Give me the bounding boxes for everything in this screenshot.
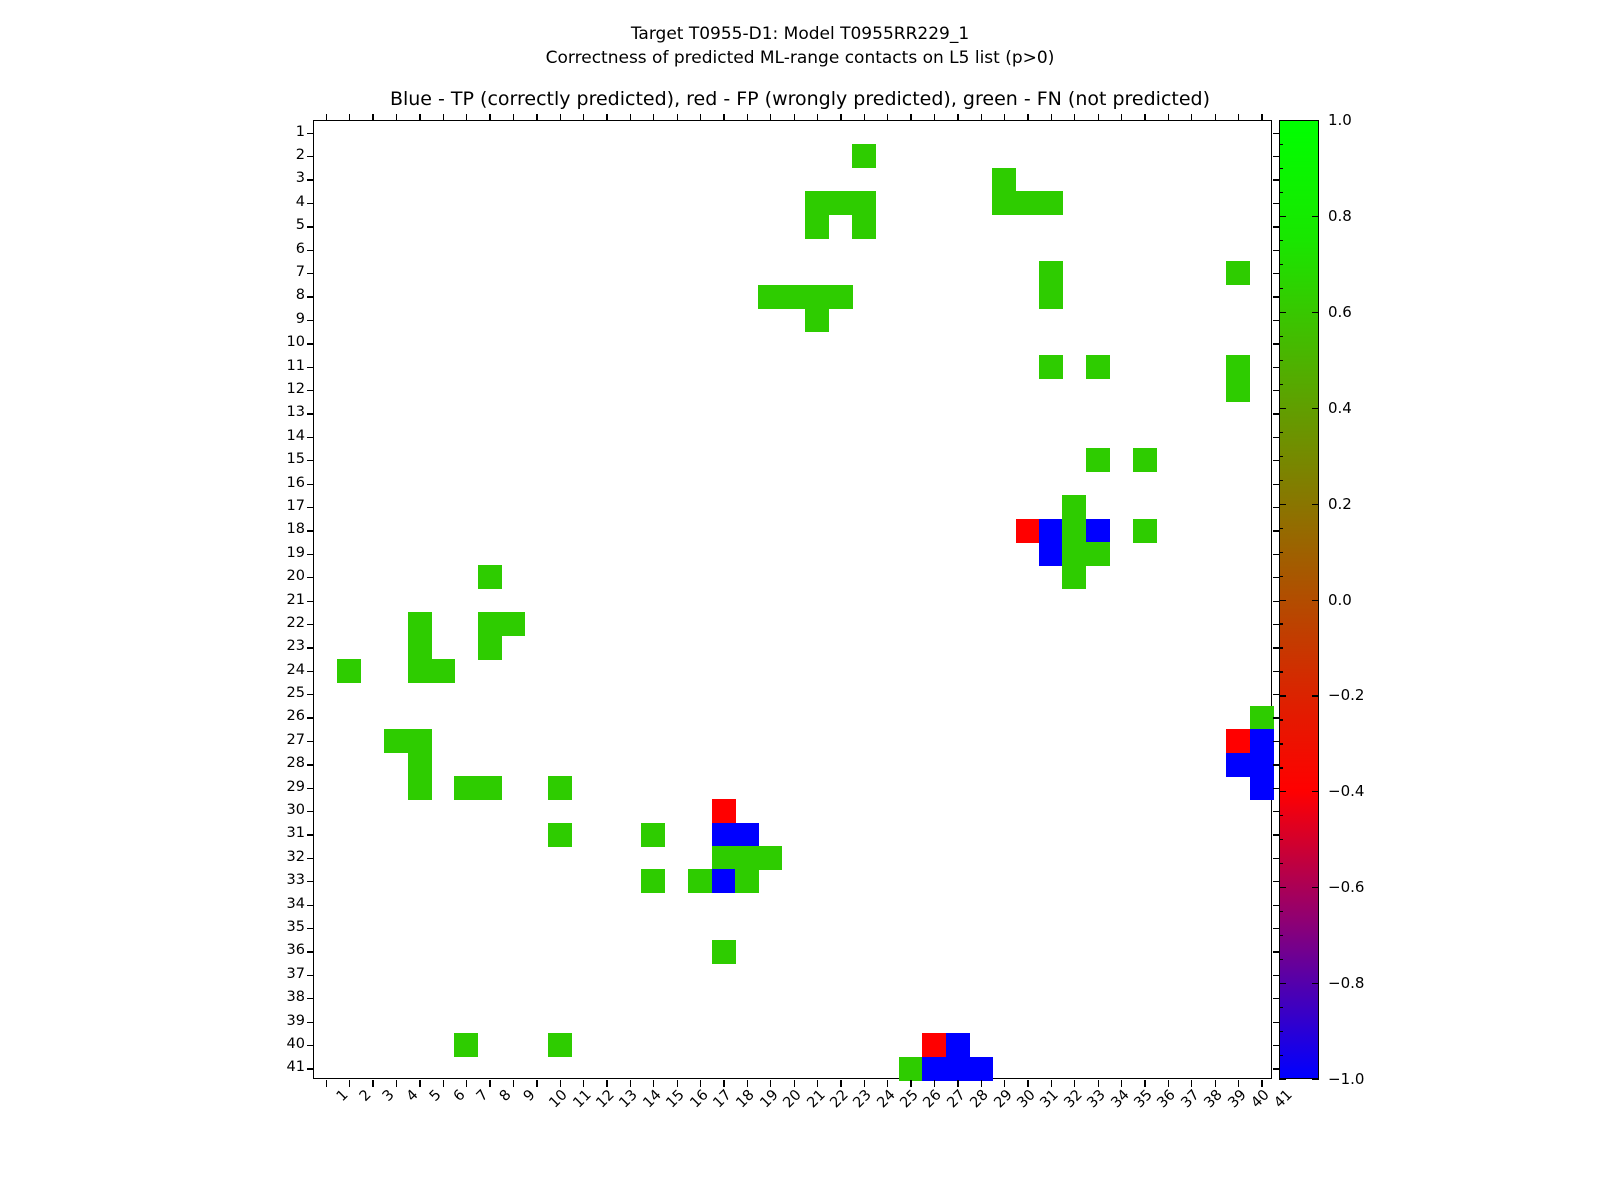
x-axis-tick-top [606, 114, 607, 121]
y-axis-tick-label: 14 [287, 428, 305, 444]
heatmap-cell [1250, 706, 1274, 730]
x-axis-tick-top [560, 114, 561, 121]
y-axis-tick-label: 20 [287, 568, 305, 584]
heatmap-cell [478, 612, 502, 636]
y-axis-tick-label: 12 [287, 381, 305, 397]
heatmap-cell [735, 823, 759, 847]
x-axis-tick-label: 24 [874, 1087, 898, 1111]
colorbar-minor-tick [1279, 815, 1283, 816]
x-axis-tick-label: 35 [1131, 1087, 1155, 1111]
x-axis-tick-label: 18 [734, 1087, 758, 1111]
colorbar-minor-tick [1279, 671, 1283, 672]
colorbar-minor-tick [1279, 791, 1283, 792]
colorbar-tick-label: −0.6 [1328, 878, 1364, 896]
x-axis-tick-label: 34 [1108, 1087, 1132, 1111]
color-legend-text: Blue - TP (correctly predicted), red - F… [0, 88, 1600, 110]
heatmap-cell [782, 285, 806, 309]
x-axis-tick-top [372, 114, 373, 121]
x-axis-tick-top [887, 114, 888, 121]
y-axis-tick-label: 1 [296, 124, 305, 140]
heatmap-cell [1250, 776, 1274, 800]
x-axis-tick-label: 4 [404, 1087, 422, 1105]
y-axis-tick [307, 343, 314, 344]
heatmap-cell [641, 869, 665, 893]
y-axis-tick-label: 22 [287, 615, 305, 631]
y-axis-tick-label: 40 [287, 1036, 305, 1052]
x-axis-tick-top [513, 114, 514, 121]
y-axis-tick [307, 507, 314, 508]
heatmap-cell [992, 191, 1016, 215]
heatmap-cell [478, 776, 502, 800]
colorbar-minor-tick [1279, 576, 1283, 577]
y-axis-tick [307, 1068, 314, 1069]
y-axis-tick-label: 21 [287, 592, 305, 608]
y-axis-tick [307, 133, 314, 134]
y-axis-tick-label: 39 [287, 1013, 305, 1029]
y-axis-tick [307, 905, 314, 906]
heatmap-cell [735, 846, 759, 870]
y-axis-tick-label: 32 [287, 849, 305, 865]
colorbar-minor-tick [1279, 288, 1283, 289]
heatmap-cell [852, 191, 876, 215]
y-axis-tick [307, 624, 314, 625]
colorbar-minor-tick [1279, 456, 1283, 457]
x-axis-tick-top [1004, 114, 1005, 121]
heatmap-cell [384, 729, 408, 753]
colorbar-tick-label: 0.2 [1328, 495, 1352, 513]
x-axis-tick-top [864, 114, 865, 121]
x-axis-tick-label: 11 [570, 1087, 594, 1111]
x-axis-tick-label: 19 [757, 1087, 781, 1111]
colorbar-minor-tick [1279, 384, 1283, 385]
x-axis-tick-label: 13 [617, 1087, 641, 1111]
colorbar-minor-tick [1279, 1079, 1283, 1080]
x-axis-tick-top [326, 114, 327, 121]
colorbar-tick-right [1312, 504, 1319, 505]
heatmap-cell [946, 1033, 970, 1057]
y-axis-tick-label: 24 [287, 662, 305, 678]
y-axis-tick-labels: 1234567891011121314151617181920212223242… [253, 120, 305, 1079]
x-axis-tick-top [981, 114, 982, 121]
heatmap-cell [922, 1057, 946, 1081]
y-axis-tick [307, 881, 314, 882]
x-axis-tick-top [466, 114, 467, 121]
heatmap-cell [1062, 565, 1086, 589]
x-axis-tick-top [1098, 114, 1099, 121]
y-axis-tick [307, 717, 314, 718]
x-axis-tick-label: 36 [1155, 1087, 1179, 1111]
x-axis-tick-label: 21 [804, 1087, 828, 1111]
heatmap-cell [992, 168, 1016, 192]
y-axis-tick [307, 998, 314, 999]
heatmap-cell [337, 659, 361, 683]
y-axis-tick-label: 36 [287, 942, 305, 958]
y-axis-tick [307, 367, 314, 368]
heatmap-cell [1133, 519, 1157, 543]
x-axis-tick-label: 27 [944, 1087, 968, 1111]
heatmap-cell [1062, 519, 1086, 543]
y-axis-tick [307, 320, 314, 321]
heatmap-cell [1226, 729, 1250, 753]
y-axis-tick-label: 33 [287, 872, 305, 888]
colorbar-minor-tick [1279, 480, 1283, 481]
y-axis-tick [307, 975, 314, 976]
colorbar-tick-right [1312, 312, 1319, 313]
y-axis-tick-label: 2 [296, 147, 305, 163]
heatmap-cell [548, 823, 572, 847]
x-axis-tick-label: 9 [521, 1087, 539, 1105]
y-axis-tick [307, 273, 314, 274]
x-axis-tick-top [1215, 114, 1216, 121]
colorbar-minor-tick [1279, 647, 1283, 648]
x-axis-tick-top [1051, 114, 1052, 121]
colorbar-tick-right [1312, 695, 1319, 696]
colorbar-tick-right [1312, 983, 1319, 984]
colorbar-ticks [1279, 120, 1319, 1079]
x-axis-tick-label: 29 [991, 1087, 1015, 1111]
colorbar-minor-tick [1279, 528, 1283, 529]
y-axis-tick-label: 11 [287, 358, 305, 374]
y-axis-tick-label: 18 [287, 521, 305, 537]
colorbar-tick-label: −0.2 [1328, 686, 1364, 704]
heatmap-cell [1250, 753, 1274, 777]
colorbar-tick-right [1312, 216, 1319, 217]
x-axis-tick-label: 39 [1225, 1087, 1249, 1111]
x-axis-tick-label: 41 [1272, 1087, 1296, 1111]
y-axis-tick [307, 203, 314, 204]
colorbar-minor-tick [1279, 144, 1283, 145]
x-axis-tick-top [677, 114, 678, 121]
x-axis-tick-top [1074, 114, 1075, 121]
x-axis-tick-top [934, 114, 935, 121]
title-line-1: Target T0955-D1: Model T0955RR229_1 [631, 24, 969, 44]
heatmap-cell [408, 729, 432, 753]
colorbar-minor-tick [1279, 408, 1283, 409]
x-axis-tick-top [419, 114, 420, 121]
heatmap-cell [805, 191, 829, 215]
colorbar-minor-tick [1279, 623, 1283, 624]
colorbar-minor-tick [1279, 360, 1283, 361]
x-axis-tick-top [349, 114, 350, 121]
y-axis-tick [307, 741, 314, 742]
x-axis-tick-labels: 1234567891011121314151617181920212223242… [313, 1079, 1272, 1169]
x-axis-tick-top [1261, 114, 1262, 121]
y-axis-tick-label: 5 [296, 217, 305, 233]
colorbar-minor-tick [1279, 1031, 1283, 1032]
colorbar-minor-tick [1279, 719, 1283, 720]
y-axis-tick-label: 23 [287, 638, 305, 654]
x-axis-tick-top [957, 114, 958, 121]
y-axis-tick [307, 179, 314, 180]
x-axis-tick-top [1191, 114, 1192, 121]
y-axis-tick-label: 7 [296, 264, 305, 280]
heatmap-cell [478, 565, 502, 589]
y-axis-tick [307, 250, 314, 251]
colorbar-tick-right [1312, 408, 1319, 409]
x-axis-tick-top [630, 114, 631, 121]
colorbar-tick-label: 0.8 [1328, 207, 1352, 225]
colorbar-tick-right [1312, 1079, 1319, 1080]
colorbar-tick-label: 0.0 [1328, 591, 1352, 609]
colorbar-minor-tick [1279, 168, 1283, 169]
x-axis-tick-top [396, 114, 397, 121]
x-axis-tick-top [1168, 114, 1169, 121]
colorbar-minor-tick [1279, 552, 1283, 553]
y-axis-tick-label: 31 [287, 825, 305, 841]
colorbar-tick-right [1312, 887, 1319, 888]
colorbar-minor-tick [1279, 695, 1283, 696]
x-axis-tick-label: 12 [593, 1087, 617, 1111]
x-axis-tick-label: 3 [380, 1087, 398, 1105]
heatmap-cell [758, 285, 782, 309]
x-axis-tick-label: 23 [851, 1087, 875, 1111]
heatmap-cell [1039, 261, 1063, 285]
heatmap-cell [758, 846, 782, 870]
heatmap-cell [501, 612, 525, 636]
x-axis-tick-label: 33 [1085, 1087, 1109, 1111]
y-axis-tick [307, 928, 314, 929]
heatmap-cell [548, 776, 572, 800]
x-axis-tick-top [1121, 114, 1122, 121]
colorbar-tick-right [1312, 600, 1319, 601]
y-axis-tick-label: 26 [287, 708, 305, 724]
heatmap-cell [829, 285, 853, 309]
colorbar-minor-tick [1279, 935, 1283, 936]
colorbar-minor-tick [1279, 336, 1283, 337]
colorbar-tick-right [1312, 791, 1319, 792]
heatmap-cell [1039, 191, 1063, 215]
x-axis-tick-label: 37 [1178, 1087, 1202, 1111]
colorbar-minor-tick [1279, 1055, 1283, 1056]
heatmap-cell [454, 1033, 478, 1057]
figure-title: Target T0955-D1: Model T0955RR229_1Corre… [0, 22, 1600, 70]
x-axis-tick-top [583, 114, 584, 121]
y-axis-tick [307, 694, 314, 695]
colorbar-minor-tick [1279, 600, 1283, 601]
heatmap-cell [431, 659, 455, 683]
heatmap-cell [478, 636, 502, 660]
y-axis-tick-label: 9 [296, 311, 305, 327]
colorbar-minor-tick [1279, 432, 1283, 433]
colorbar-minor-tick [1279, 839, 1283, 840]
x-axis-tick-top [700, 114, 701, 121]
y-axis-tick [307, 484, 314, 485]
contact-map-figure: Target T0955-D1: Model T0955RR229_1Corre… [0, 0, 1600, 1200]
heatmap-cell [408, 753, 432, 777]
x-axis-tick-top [817, 114, 818, 121]
heatmap-cell [1039, 542, 1063, 566]
y-axis-tick [307, 951, 314, 952]
x-axis-tick-label: 5 [427, 1087, 445, 1105]
y-axis-tick [307, 577, 314, 578]
y-axis-tick [307, 296, 314, 297]
colorbar-minor-tick [1279, 911, 1283, 912]
y-axis-tick-label: 10 [287, 334, 305, 350]
heatmap-cell [1086, 448, 1110, 472]
x-axis-tick-top [1238, 114, 1239, 121]
heatmap-cell [1039, 355, 1063, 379]
heatmap-cell [922, 1033, 946, 1057]
heatmap-cell [408, 776, 432, 800]
y-axis-tick [307, 554, 314, 555]
heatmap-cell [852, 215, 876, 239]
heatmap-cell [1039, 285, 1063, 309]
heatmap-cell [641, 823, 665, 847]
x-axis-tick-label: 6 [450, 1087, 468, 1105]
x-axis-tick-label: 15 [664, 1087, 688, 1111]
y-axis-tick [307, 601, 314, 602]
colorbar-minor-tick [1279, 887, 1283, 888]
y-axis-tick-label: 29 [287, 779, 305, 795]
y-axis-tick [307, 858, 314, 859]
colorbar-minor-tick [1279, 743, 1283, 744]
x-axis-tick-label: 20 [781, 1087, 805, 1111]
colorbar-minor-tick [1279, 1007, 1283, 1008]
colorbar-minor-tick [1279, 767, 1283, 768]
heatmap-cell [712, 869, 736, 893]
y-axis-tick [307, 811, 314, 812]
y-axis-tick-label: 34 [287, 896, 305, 912]
heatmap-cell [1226, 753, 1250, 777]
colorbar-tick-label: 1.0 [1328, 111, 1352, 129]
colorbar-minor-tick [1279, 216, 1283, 217]
heatmap-cell [805, 285, 829, 309]
heatmap-cell [712, 940, 736, 964]
x-axis-tick-label: 26 [921, 1087, 945, 1111]
x-axis-tick-top [653, 114, 654, 121]
heatmap-cell [805, 308, 829, 332]
y-axis-tick-label: 8 [296, 287, 305, 303]
y-axis-tick-label: 15 [287, 451, 305, 467]
heatmap-cell [1016, 191, 1040, 215]
colorbar-tick-right [1312, 120, 1319, 121]
x-axis-tick-label: 25 [897, 1087, 921, 1111]
y-axis-tick [307, 671, 314, 672]
x-axis-tick-top [723, 114, 724, 121]
x-axis-tick-label: 31 [1038, 1087, 1062, 1111]
y-axis-tick [307, 437, 314, 438]
y-axis-tick [307, 390, 314, 391]
y-axis-tick-label: 27 [287, 732, 305, 748]
y-axis-tick [307, 788, 314, 789]
y-axis-tick [307, 647, 314, 648]
y-axis-tick [307, 1022, 314, 1023]
y-axis-tick-label: 16 [287, 475, 305, 491]
y-axis-tick-label: 37 [287, 966, 305, 982]
heatmap-cell [712, 846, 736, 870]
colorbar-tick-label: −0.4 [1328, 782, 1364, 800]
x-axis-tick-label: 17 [710, 1087, 734, 1111]
colorbar-minor-tick [1279, 312, 1283, 313]
x-axis-tick-label: 1 [333, 1087, 351, 1105]
heatmap-cell [688, 869, 712, 893]
x-axis-tick-label: 28 [968, 1087, 992, 1111]
colorbar-minor-tick [1279, 504, 1283, 505]
y-axis-tick-label: 3 [296, 170, 305, 186]
x-axis-tick-label: 7 [474, 1087, 492, 1105]
heatmap-cell [1016, 519, 1040, 543]
y-axis-tick [307, 1045, 314, 1046]
y-axis-tick-label: 4 [296, 194, 305, 210]
x-axis-tick-top [1144, 114, 1145, 121]
heatmap-cell [899, 1057, 923, 1081]
y-axis-tick-label: 28 [287, 755, 305, 771]
y-axis-tick-label: 41 [287, 1059, 305, 1075]
heatmap-cell [712, 799, 736, 823]
y-axis-tick-label: 17 [287, 498, 305, 514]
y-axis-tick-label: 25 [287, 685, 305, 701]
x-axis-tick-top [770, 114, 771, 121]
colorbar-minor-tick [1279, 240, 1283, 241]
heatmap-cell [408, 636, 432, 660]
y-axis-tick-label: 13 [287, 404, 305, 420]
x-axis-tick-label: 40 [1248, 1087, 1272, 1111]
x-axis-tick-top [1027, 114, 1028, 121]
x-axis-tick-top [794, 114, 795, 121]
colorbar-minor-tick [1279, 983, 1283, 984]
heatmap-cell [1226, 261, 1250, 285]
heatmap-cells [314, 121, 1273, 1080]
y-axis-tick-label: 30 [287, 802, 305, 818]
y-axis-tick [307, 460, 314, 461]
x-axis-tick-label: 8 [497, 1087, 515, 1105]
y-axis-tick [307, 156, 314, 157]
heatmap-cell [408, 659, 432, 683]
y-axis-tick-label: 35 [287, 919, 305, 935]
heatmap-cell [712, 823, 736, 847]
heatmap-cell [548, 1033, 572, 1057]
colorbar-minor-tick [1279, 264, 1283, 265]
title-line-2: Correctness of predicted ML-range contac… [546, 48, 1055, 68]
colorbar-tick-label: −0.8 [1328, 974, 1364, 992]
heatmap-cell [408, 612, 432, 636]
x-axis-tick-top [489, 114, 490, 121]
y-axis-tick-label: 19 [287, 545, 305, 561]
y-axis-tick [307, 226, 314, 227]
heatmap-cell [1226, 355, 1250, 379]
colorbar-tick-label: 0.6 [1328, 303, 1352, 321]
heatmap-cell [1226, 378, 1250, 402]
contact-map-axes [313, 120, 1272, 1079]
x-axis-tick-top [910, 114, 911, 121]
x-axis-tick-label: 16 [687, 1087, 711, 1111]
x-axis-tick-top [443, 114, 444, 121]
heatmap-cell [1133, 448, 1157, 472]
x-axis-tick-top [840, 114, 841, 121]
x-axis-tick-label: 32 [1061, 1087, 1085, 1111]
x-axis-tick-top [536, 114, 537, 121]
heatmap-cell [1086, 355, 1110, 379]
y-axis-tick [307, 530, 314, 531]
heatmap-cell [454, 776, 478, 800]
y-axis-tick [307, 834, 314, 835]
colorbar-minor-tick [1279, 192, 1283, 193]
heatmap-cell [1039, 519, 1063, 543]
colorbar-tick-label: 0.4 [1328, 399, 1352, 417]
colorbar-minor-tick [1279, 863, 1283, 864]
heatmap-cell [735, 869, 759, 893]
y-axis-tick-label: 6 [296, 241, 305, 257]
x-axis-tick-top [747, 114, 748, 121]
colorbar-minor-tick [1279, 959, 1283, 960]
colorbar-minor-tick [1279, 120, 1283, 121]
x-axis-tick-label: 10 [547, 1087, 571, 1111]
heatmap-cell [805, 215, 829, 239]
x-axis-tick-label: 2 [357, 1087, 375, 1105]
heatmap-cell [852, 144, 876, 168]
x-axis-tick-label: 14 [640, 1087, 664, 1111]
heatmap-cell [1062, 495, 1086, 519]
